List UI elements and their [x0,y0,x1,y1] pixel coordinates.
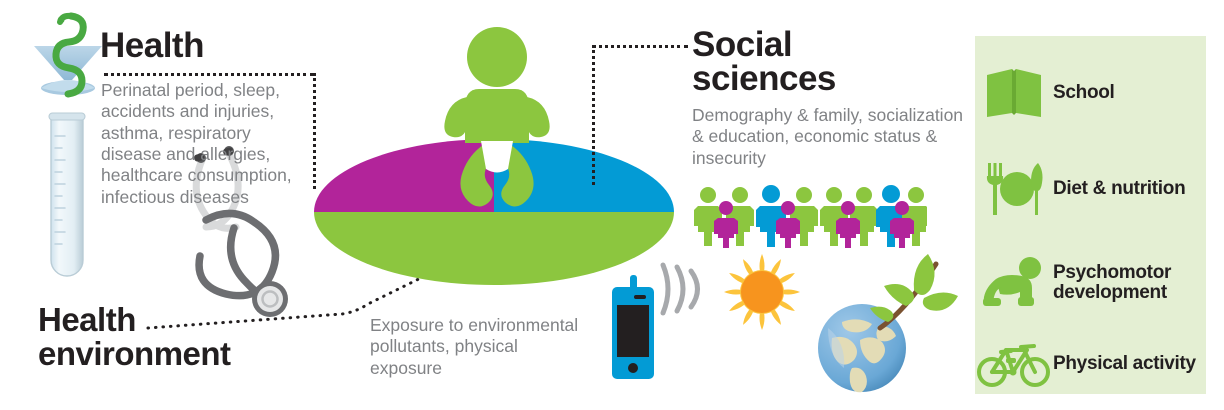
legend-label-psychomotor-development: Psychomotor development [1053,263,1206,303]
infographic-canvas: Health Perinatal period, sleep, accident… [0,0,1224,410]
page-title-health-environment: Health environment [38,303,318,370]
test-tube-icon [41,110,93,290]
legend-item-psychomotor-development[interactable]: Psychomotor development [975,248,1206,318]
legend-item-school[interactable]: School [975,58,1206,128]
sun-icon [722,252,802,332]
caduceus-bowl-of-hygieia-icon [28,10,108,106]
legend-item-diet-nutrition[interactable]: Diet & nutrition [975,154,1206,224]
social-sciences-description: Demography & family, socialization & edu… [692,105,967,169]
open-book-icon [975,67,1053,119]
plate-fork-knife-icon [975,161,1053,217]
baby-icon [437,25,557,215]
health-environment-description: Exposure to environmental pollutants, ph… [370,315,580,379]
crawling-baby-icon [975,257,1053,309]
health-description: Perinatal period, sleep, accidents and i… [101,80,311,208]
connector-social-horizontal [592,45,688,48]
mobile-phone-icon [608,275,656,383]
legend-label-diet-nutrition: Diet & nutrition [1053,179,1185,199]
radio-waves-icon [655,255,707,325]
page-title-health: Health [100,28,204,63]
plant-leaves-icon [866,250,962,355]
connector-health-horizontal [104,73,314,76]
legend-panel: School Diet & nutritio [975,36,1206,394]
people-group-icon [692,182,927,248]
page-title-social-sciences: Social sciences [692,28,902,97]
legend-label-school: School [1053,83,1115,103]
connector-social-vertical [592,45,595,185]
legend-item-physical-activity[interactable]: Physical activity [975,326,1206,402]
bicycle-icon [975,338,1053,390]
legend-label-physical-activity: Physical activity [1053,354,1196,374]
